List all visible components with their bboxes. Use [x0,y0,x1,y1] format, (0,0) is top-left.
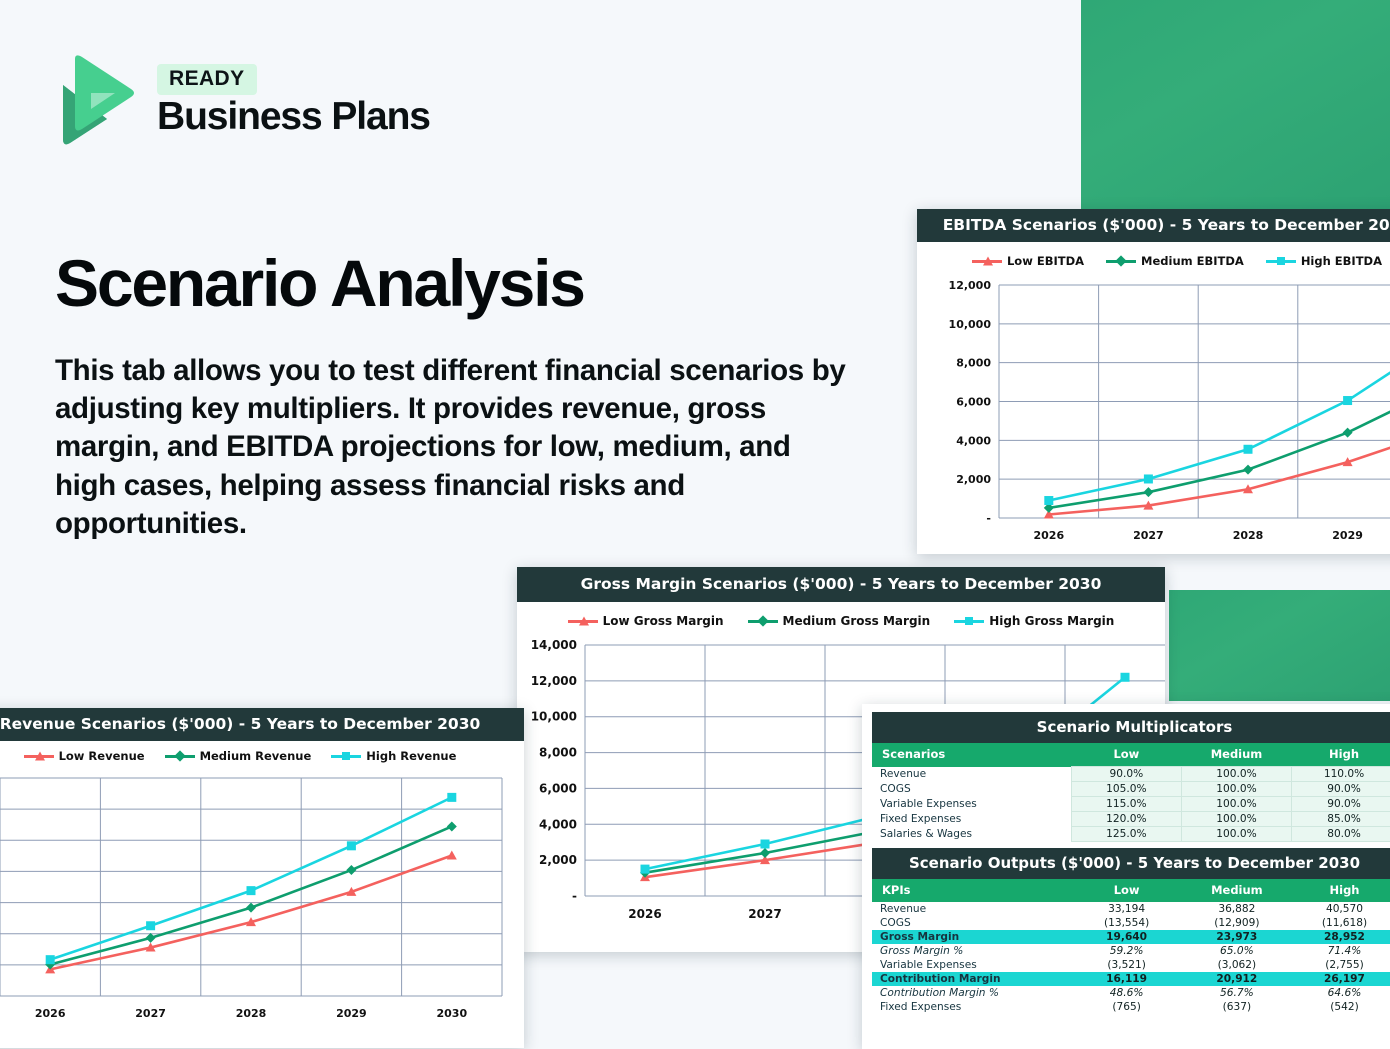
svg-text:2028: 2028 [236,1007,267,1020]
scenario-tables-card: Scenario Multiplicators Scenarios Low Me… [862,704,1390,1049]
ebitda-chart-card: EBITDA Scenarios ($'000) - 5 Years to De… [917,209,1390,554]
table-row: Revenue90.0%100.0%110.0% [872,767,1390,782]
legend-label: High Gross Margin [989,614,1114,628]
legend-label: High Revenue [366,749,456,763]
ebitda-chart-title: EBITDA Scenarios ($'000) - 5 Years to De… [917,209,1390,242]
row-label: Variable Expenses [872,797,1071,812]
svg-text:10,000: 10,000 [949,318,992,331]
revenue-chart-card: Revenue Scenarios ($'000) - 5 Years to D… [0,708,524,1048]
play-triangle-logo-icon [55,55,139,147]
svg-text:14,000: 14,000 [531,638,577,652]
svg-text:6,000: 6,000 [539,781,577,795]
cell-high: (2,755) [1292,958,1390,972]
revenue-plot-area: 20262027202820292030 [0,762,524,1048]
col-low: Low [1071,743,1181,767]
table-row: Salaries & Wages125.0%100.0%80.0% [872,827,1390,842]
legend-label: Medium Revenue [200,749,312,763]
table-header-row: KPIs Low Medium High [872,879,1390,902]
legend-marker-square-icon [331,755,361,758]
ready-badge: READY [157,64,257,95]
legend-label: High EBITDA [1301,254,1382,268]
cell-medium: 65.0% [1182,944,1292,958]
legend-marker-triangle-icon [24,755,54,758]
cell-low: 120.0% [1071,812,1181,827]
table-row: COGS(13,554)(12,909)(11,618) [872,916,1390,930]
legend-label: Low EBITDA [1007,254,1084,268]
row-label: Salaries & Wages [872,827,1071,842]
svg-text:2028: 2028 [1233,529,1264,542]
table-row: Fixed Expenses(765)(637)(542) [872,1000,1390,1014]
table-row: Fixed Expenses120.0%100.0%85.0% [872,812,1390,827]
cell-high: 40,570 [1292,902,1390,916]
svg-text:8,000: 8,000 [539,746,577,760]
table-row: Contribution Margin16,11920,91226,197 [872,972,1390,986]
table-row: Gross Margin %59.2%65.0%71.4% [872,944,1390,958]
cell-medium: (12,909) [1182,916,1292,930]
cell-low: 105.0% [1071,782,1181,797]
scenario-outputs-table: KPIs Low Medium High Revenue33,19436,882… [872,879,1390,1014]
legend-item-high-ebitda: High EBITDA [1266,254,1382,268]
table-row: Revenue33,19436,88240,570 [872,902,1390,916]
col-low: Low [1072,879,1182,902]
col-medium: Medium [1182,879,1292,902]
svg-text:-: - [572,889,577,903]
legend-item-low-revenue: Low Revenue [24,749,145,763]
cell-medium: 36,882 [1182,902,1292,916]
svg-text:2026: 2026 [1033,529,1064,542]
revenue-chart-title: Revenue Scenarios ($'000) - 5 Years to D… [0,708,524,741]
cell-low: 115.0% [1071,797,1181,812]
cell-low: (765) [1072,1000,1182,1014]
cell-medium: 100.0% [1181,767,1291,782]
row-label: Revenue [872,902,1072,916]
svg-text:2027: 2027 [135,1007,166,1020]
cell-low: 125.0% [1071,827,1181,842]
legend-marker-triangle-icon [972,260,1002,263]
cell-low: (13,554) [1072,916,1182,930]
decorative-green-block-middle [1169,590,1390,701]
col-kpis: KPIs [872,879,1072,902]
legend-marker-diamond-icon [748,620,778,623]
cell-low: 90.0% [1071,767,1181,782]
cell-high: (542) [1292,1000,1390,1014]
table-row: Variable Expenses115.0%100.0%90.0% [872,797,1390,812]
revenue-chart-legend: Low Revenue Medium Revenue High Revenue [0,749,524,763]
ebitda-plot-area: -2,0004,0006,0008,00010,00012,0002026202… [917,271,1390,554]
legend-label: Low Revenue [59,749,145,763]
cell-low: 59.2% [1072,944,1182,958]
svg-text:2,000: 2,000 [956,473,991,486]
cell-high: 110.0% [1292,767,1390,782]
cell-medium: (3,062) [1182,958,1292,972]
brand-name: Business Plans [157,97,430,138]
svg-text:8,000: 8,000 [956,357,991,370]
cell-medium: 20,912 [1182,972,1292,986]
cell-low: 16,119 [1072,972,1182,986]
decorative-green-block-top [1081,0,1390,209]
cell-high: 71.4% [1292,944,1390,958]
row-label: Gross Margin % [872,944,1072,958]
outputs-title: Scenario Outputs ($'000) - 5 Years to De… [872,848,1390,879]
cell-high: 64.6% [1292,986,1390,1000]
cell-medium: (637) [1182,1000,1292,1014]
cell-low: (3,521) [1072,958,1182,972]
table-row: COGS105.0%100.0%90.0% [872,782,1390,797]
row-label: Fixed Expenses [872,1000,1072,1014]
svg-text:2027: 2027 [748,907,781,921]
svg-text:2029: 2029 [336,1007,367,1020]
legend-label: Medium EBITDA [1141,254,1244,268]
cell-low: 33,194 [1072,902,1182,916]
row-label: COGS [872,782,1071,797]
legend-label: Low Gross Margin [603,614,724,628]
svg-text:6,000: 6,000 [956,396,991,409]
legend-item-medium-gross-margin: Medium Gross Margin [748,614,931,628]
svg-text:10,000: 10,000 [531,710,577,724]
svg-text:2030: 2030 [436,1007,467,1020]
svg-text:2027: 2027 [1133,529,1164,542]
legend-item-low-gross-margin: Low Gross Margin [568,614,724,628]
col-scenarios: Scenarios [872,743,1071,767]
cell-high: (11,618) [1292,916,1390,930]
table-row: Gross Margin19,64023,97328,952 [872,930,1390,944]
gross-margin-chart-legend: Low Gross Margin Medium Gross Margin Hig… [517,614,1165,628]
svg-text:2029: 2029 [1332,529,1363,542]
svg-text:12,000: 12,000 [949,279,992,292]
page-title: Scenario Analysis [55,249,584,318]
row-label: Variable Expenses [872,958,1072,972]
cell-medium: 23,973 [1182,930,1292,944]
cell-high: 26,197 [1292,972,1390,986]
row-label: Contribution Margin % [872,986,1072,1000]
cell-low: 48.6% [1072,986,1182,1000]
brand-logo: READY Business Plans [55,55,430,147]
legend-marker-square-icon [954,620,984,623]
legend-item-high-gross-margin: High Gross Margin [954,614,1114,628]
cell-high: 90.0% [1292,797,1390,812]
cell-high: 80.0% [1292,827,1390,842]
col-medium: Medium [1181,743,1291,767]
legend-item-high-revenue: High Revenue [331,749,456,763]
cell-medium: 100.0% [1181,827,1291,842]
legend-marker-diamond-icon [1106,260,1136,263]
legend-item-low-ebitda: Low EBITDA [972,254,1084,268]
table-row: Contribution Margin %48.6%56.7%64.6% [872,986,1390,1000]
legend-item-medium-revenue: Medium Revenue [165,749,312,763]
row-label: Fixed Expenses [872,812,1071,827]
ebitda-chart-legend: Low EBITDA Medium EBITDA High EBITDA [917,254,1390,268]
col-high: High [1292,879,1390,902]
legend-marker-square-icon [1266,260,1296,263]
cell-medium: 100.0% [1181,797,1291,812]
svg-text:2026: 2026 [35,1007,66,1020]
cell-high: 90.0% [1292,782,1390,797]
svg-text:12,000: 12,000 [531,674,577,688]
cell-low: 19,640 [1072,930,1182,944]
svg-text:4,000: 4,000 [539,817,577,831]
row-label: Gross Margin [872,930,1072,944]
table-row: Variable Expenses(3,521)(3,062)(2,755) [872,958,1390,972]
cell-high: 85.0% [1292,812,1390,827]
svg-text:2,000: 2,000 [539,853,577,867]
table-header-row: Scenarios Low Medium High [872,743,1390,767]
row-label: COGS [872,916,1072,930]
cell-medium: 56.7% [1182,986,1292,1000]
legend-item-medium-ebitda: Medium EBITDA [1106,254,1244,268]
cell-medium: 100.0% [1181,782,1291,797]
svg-text:2026: 2026 [628,907,661,921]
row-label: Contribution Margin [872,972,1072,986]
row-label: Revenue [872,767,1071,782]
legend-label: Medium Gross Margin [783,614,931,628]
multiplicators-title: Scenario Multiplicators [872,712,1390,743]
gross-margin-chart-title: Gross Margin Scenarios ($'000) - 5 Years… [517,567,1165,602]
col-high: High [1292,743,1390,767]
page-description: This tab allows you to test different fi… [55,352,855,544]
legend-marker-triangle-icon [568,620,598,623]
cell-high: 28,952 [1292,930,1390,944]
svg-text:-: - [986,512,991,525]
cell-medium: 100.0% [1181,812,1291,827]
svg-text:4,000: 4,000 [956,434,991,447]
scenario-multiplicators-table: Scenarios Low Medium High Revenue90.0%10… [872,743,1390,842]
legend-marker-diamond-icon [165,755,195,758]
